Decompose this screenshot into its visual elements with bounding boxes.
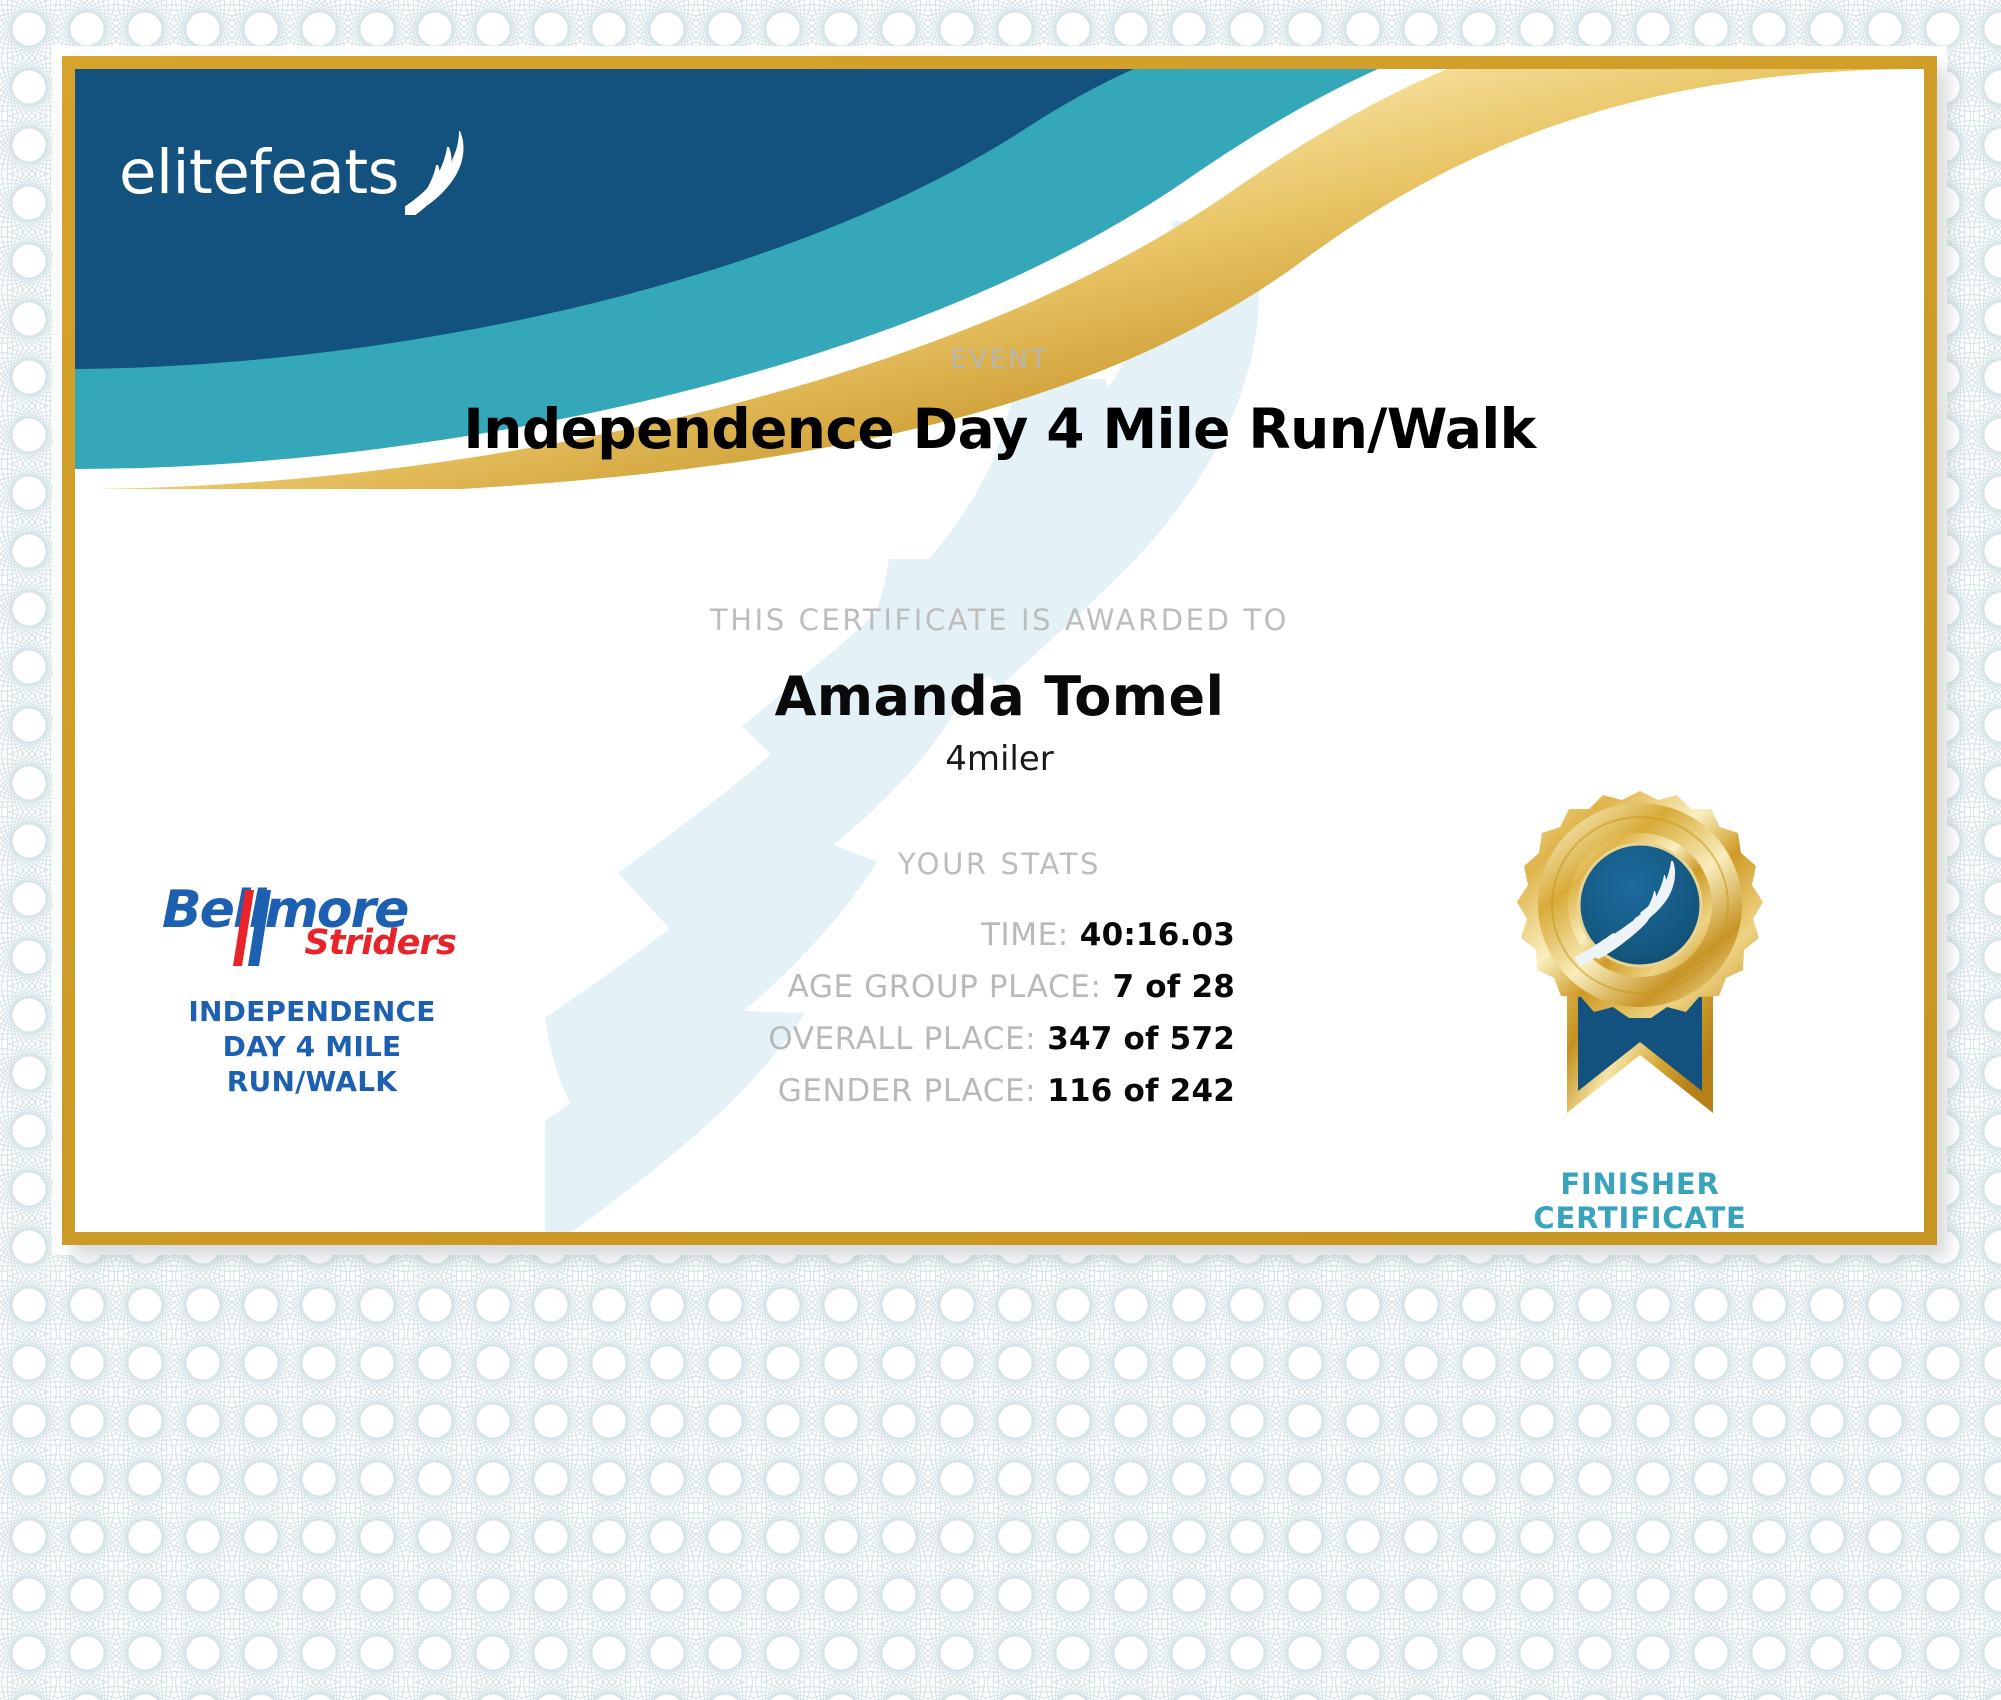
event-logo-subtitle: INDEPENDENCE DAY 4 MILE RUN/WALK [157, 994, 467, 1099]
event-logo-line-3: RUN/WALK [157, 1064, 467, 1099]
stat-value: 347 of 572 [1047, 1021, 1235, 1057]
medal-caption-line-1: FINISHER [1475, 1167, 1805, 1201]
stat-label: TIME: [981, 917, 1069, 953]
event-title: Independence Day 4 Mile Run/Walk [75, 397, 1924, 461]
stat-label: OVERALL PLACE: [768, 1021, 1036, 1057]
stat-value: 116 of 242 [1047, 1073, 1235, 1109]
club-secondary-name: Striders [304, 926, 456, 961]
finisher-medal-badge: 2025 [1475, 783, 1805, 1232]
medal-caption-line-2: CERTIFICATE [1475, 1201, 1805, 1232]
medal-caption: FINISHER CERTIFICATE [1475, 1167, 1805, 1232]
bellmore-striders-wordmark: Bellmore Striders [162, 884, 462, 974]
certificate-gold-frame: elitefeats EVENT Independence Day 4 Mile… [62, 56, 1937, 1245]
event-logo-line-2: DAY 4 MILE [157, 1029, 467, 1064]
event-logo-line-1: INDEPENDENCE [157, 994, 467, 1029]
certificate-body: elitefeats EVENT Independence Day 4 Mile… [75, 69, 1924, 1232]
certificate-page: elitefeats EVENT Independence Day 4 Mile… [0, 0, 2001, 1700]
elitefeats-logo: elitefeats [119, 129, 477, 215]
bellmore-striders-logo: Bellmore Striders INDEPENDENCE DAY 4 MIL… [157, 884, 467, 1099]
event-kicker-label: EVENT [75, 345, 1924, 375]
stat-label: GENDER PLACE: [778, 1073, 1036, 1109]
winged-foot-icon [405, 129, 477, 215]
awarded-to-label: THIS CERTIFICATE IS AWARDED TO [75, 603, 1924, 637]
brand-wordmark: elitefeats [119, 142, 399, 203]
stat-label: AGE GROUP PLACE: [788, 969, 1102, 1005]
recipient-name: Amanda Tomel [75, 665, 1924, 728]
recipient-division: 4miler [75, 739, 1924, 779]
medal-rosette-icon: 2025 [1495, 783, 1785, 1163]
stat-value: 7 of 28 [1113, 969, 1235, 1005]
stat-value: 40:16.03 [1080, 917, 1235, 953]
